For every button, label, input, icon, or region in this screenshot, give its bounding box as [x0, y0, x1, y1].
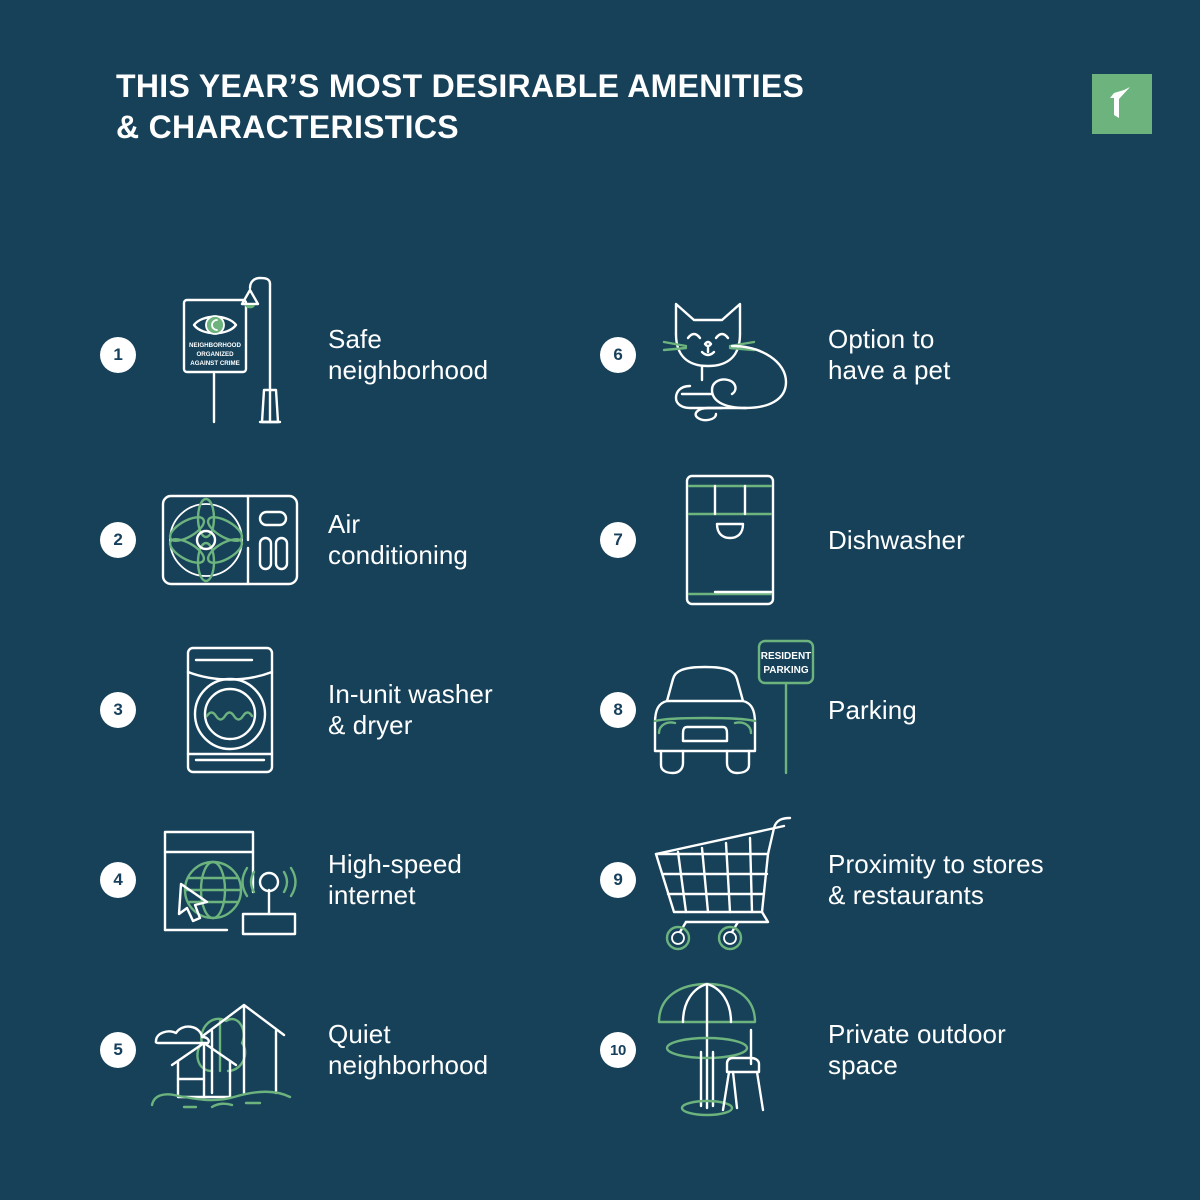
item-label: Parking	[828, 695, 917, 726]
list-item-5[interactable]: 5	[100, 965, 488, 1135]
infographic-page: THIS YEAR’S MOST DESIRABLE AMENITIES & C…	[0, 0, 1200, 1200]
list-item-4[interactable]: 4	[100, 795, 462, 965]
car-parking-sign-icon: RESIDENT PARKING	[650, 625, 810, 795]
item-number-badge: 9	[600, 862, 636, 898]
item-number-badge: 4	[100, 862, 136, 898]
air-conditioner-icon	[150, 455, 310, 625]
shopping-cart-icon	[650, 795, 810, 965]
item-label: Quiet neighborhood	[328, 1019, 488, 1081]
list-item-8[interactable]: 8 RESIDENT PARKING	[600, 625, 917, 795]
list-item-3[interactable]: 3 In-unit washer & dryer	[100, 625, 493, 795]
item-number-badge: 5	[100, 1032, 136, 1068]
list-item-2[interactable]: 2	[100, 455, 468, 625]
item-label: Proximity to stores & restaurants	[828, 849, 1044, 911]
svg-text:ORGANIZED: ORGANIZED	[196, 351, 234, 358]
item-number-badge: 8	[600, 692, 636, 728]
item-label: In-unit washer & dryer	[328, 679, 493, 741]
item-label: Dishwasher	[828, 525, 965, 556]
header: THIS YEAR’S MOST DESIRABLE AMENITIES & C…	[116, 66, 936, 148]
list-item-9[interactable]: 9	[600, 795, 1044, 965]
patio-umbrella-icon	[650, 965, 810, 1135]
svg-text:AGAINST CRIME: AGAINST CRIME	[190, 360, 240, 367]
item-label: High-speed internet	[328, 849, 462, 911]
washing-machine-icon	[150, 625, 310, 795]
svg-text:NEIGHBORHOOD: NEIGHBORHOOD	[189, 342, 241, 349]
item-number-badge: 1	[100, 337, 136, 373]
brand-logo	[1092, 74, 1152, 134]
svg-text:RESIDENT: RESIDENT	[761, 651, 812, 662]
item-number-badge: 3	[100, 692, 136, 728]
list-item-1[interactable]: 1 NEIGHBORHOOD ORGANIZED AGAINST CRIME	[100, 270, 488, 440]
list-item-6[interactable]: 6	[600, 270, 950, 440]
list-item-7[interactable]: 7 Dishwasher	[600, 455, 965, 625]
item-label: Safe neighborhood	[328, 324, 488, 386]
item-label: Option to have a pet	[828, 324, 950, 386]
neighborhood-watch-sign-icon: NEIGHBORHOOD ORGANIZED AGAINST CRIME	[150, 270, 310, 440]
svg-text:PARKING: PARKING	[763, 665, 809, 676]
item-label: Air conditioning	[328, 509, 468, 571]
item-number-badge: 2	[100, 522, 136, 558]
page-title: THIS YEAR’S MOST DESIRABLE AMENITIES & C…	[116, 66, 936, 148]
houses-icon	[150, 965, 310, 1135]
item-number-badge: 7	[600, 522, 636, 558]
item-number-badge: 10	[600, 1032, 636, 1068]
cat-icon	[650, 270, 810, 440]
item-label: Private outdoor space	[828, 1019, 1006, 1081]
list-item-10[interactable]: 10	[600, 965, 1006, 1135]
item-number-badge: 6	[600, 337, 636, 373]
globe-router-icon	[150, 795, 310, 965]
dishwasher-icon	[650, 455, 810, 625]
